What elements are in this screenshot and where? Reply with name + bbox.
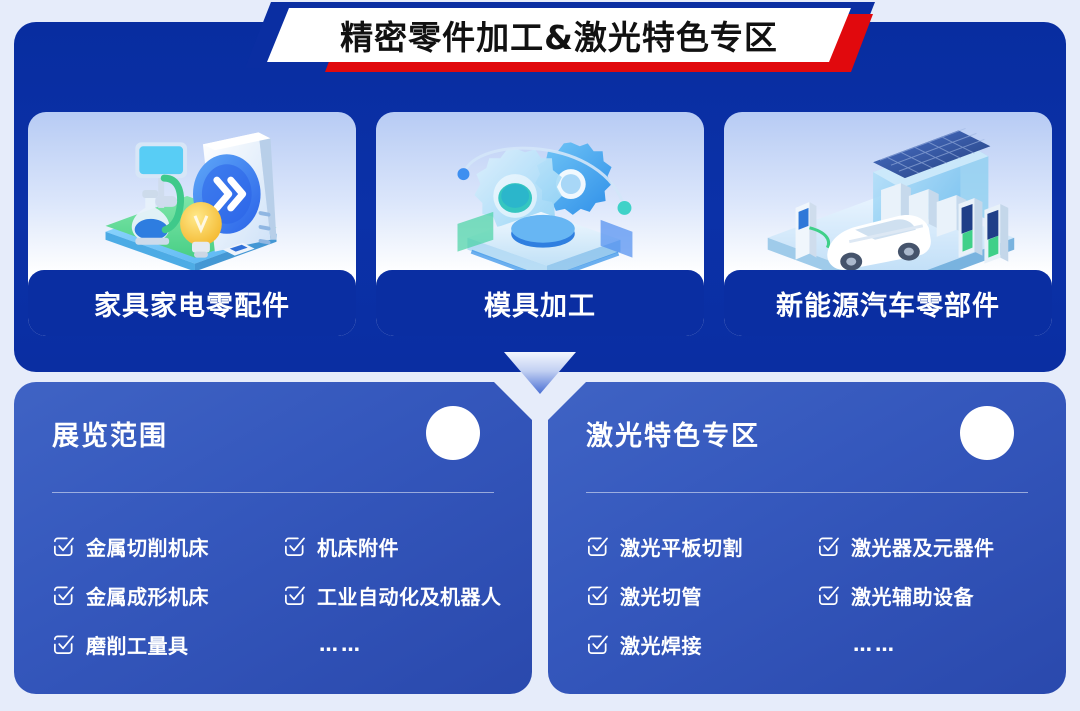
list-item-label: 激光平板切割 <box>620 532 743 561</box>
feature-cards-row: 家具家电零配件 <box>28 112 1052 336</box>
check-square-icon <box>586 633 609 656</box>
check-square-icon <box>52 535 75 558</box>
list-item-label: 金属成形机床 <box>86 581 209 610</box>
list-item[interactable]: 金属切削机床 <box>52 532 277 561</box>
laser-zone-list: 激光平板切割 激光器及元器件 激光切管 激光辅助设备 <box>586 532 1042 659</box>
list-item-more: …… <box>817 630 1042 659</box>
feature-card-label: 模具加工 <box>376 270 704 336</box>
laser-zone-panel: 激光特色专区 激光平板切割 激光器及元器件 激光切管 <box>548 382 1066 694</box>
list-item-label: …… <box>853 634 897 656</box>
list-item-label: 激光焊接 <box>620 630 702 659</box>
chevron-down-icon <box>504 352 576 394</box>
list-item[interactable]: 激光焊接 <box>586 630 811 659</box>
check-square-icon <box>817 535 840 558</box>
check-square-icon <box>586 535 609 558</box>
feature-card-appliance-parts[interactable]: 家具家电零配件 <box>28 112 356 336</box>
list-item[interactable]: 激光平板切割 <box>586 532 811 561</box>
title-banner: 精密零件加工&激光特色专区 <box>245 2 875 74</box>
mold-processing-gears-illustration <box>376 112 704 280</box>
list-item-label: 磨削工量具 <box>86 630 189 659</box>
list-item-label: 工业自动化及机器人 <box>317 581 502 610</box>
feature-card-mold-processing[interactable]: 模具加工 <box>376 112 704 336</box>
list-item-label: 机床附件 <box>317 532 399 561</box>
list-item[interactable]: 激光辅助设备 <box>817 581 1042 610</box>
list-item[interactable]: 激光器及元器件 <box>817 532 1042 561</box>
page-title: 精密零件加工&激光特色专区 <box>267 8 851 62</box>
panel-divider <box>586 492 1028 493</box>
check-square-icon <box>283 584 306 607</box>
list-item-label: 激光切管 <box>620 581 702 610</box>
check-square-icon <box>52 584 75 607</box>
list-item[interactable]: 工业自动化及机器人 <box>283 581 508 610</box>
feature-card-label: 新能源汽车零部件 <box>724 270 1052 336</box>
list-item-label: 激光器及元器件 <box>851 532 995 561</box>
list-item-more: …… <box>283 630 508 659</box>
check-square-icon <box>586 584 609 607</box>
feature-card-nev-parts[interactable]: 新能源汽车零部件 <box>724 112 1052 336</box>
list-item[interactable]: 磨削工量具 <box>52 630 277 659</box>
new-energy-vehicle-charging-station-illustration <box>724 112 1052 280</box>
home-appliance-parts-illustration <box>28 112 356 280</box>
feature-card-label: 家具家电零配件 <box>28 270 356 336</box>
panel-dot <box>960 406 1014 460</box>
list-item-label: 金属切削机床 <box>86 532 209 561</box>
list-item-label: …… <box>319 634 363 656</box>
list-item-label: 激光辅助设备 <box>851 581 974 610</box>
check-square-icon <box>817 584 840 607</box>
list-item[interactable]: 机床附件 <box>283 532 508 561</box>
panel-divider <box>52 492 494 493</box>
check-square-icon <box>283 535 306 558</box>
panel-title: 展览范围 <box>52 414 168 453</box>
exhibition-scope-list: 金属切削机床 机床附件 金属成形机床 工业自动化及机器人 <box>52 532 508 659</box>
list-item[interactable]: 金属成形机床 <box>52 581 277 610</box>
panel-title: 激光特色专区 <box>586 414 760 453</box>
check-square-icon <box>52 633 75 656</box>
exhibition-scope-panel: 展览范围 金属切削机床 机床附件 金属成形机床 <box>14 382 532 694</box>
list-item[interactable]: 激光切管 <box>586 581 811 610</box>
poster-root: 精密零件加工&激光特色专区 <box>0 0 1080 711</box>
panel-dot <box>426 406 480 460</box>
